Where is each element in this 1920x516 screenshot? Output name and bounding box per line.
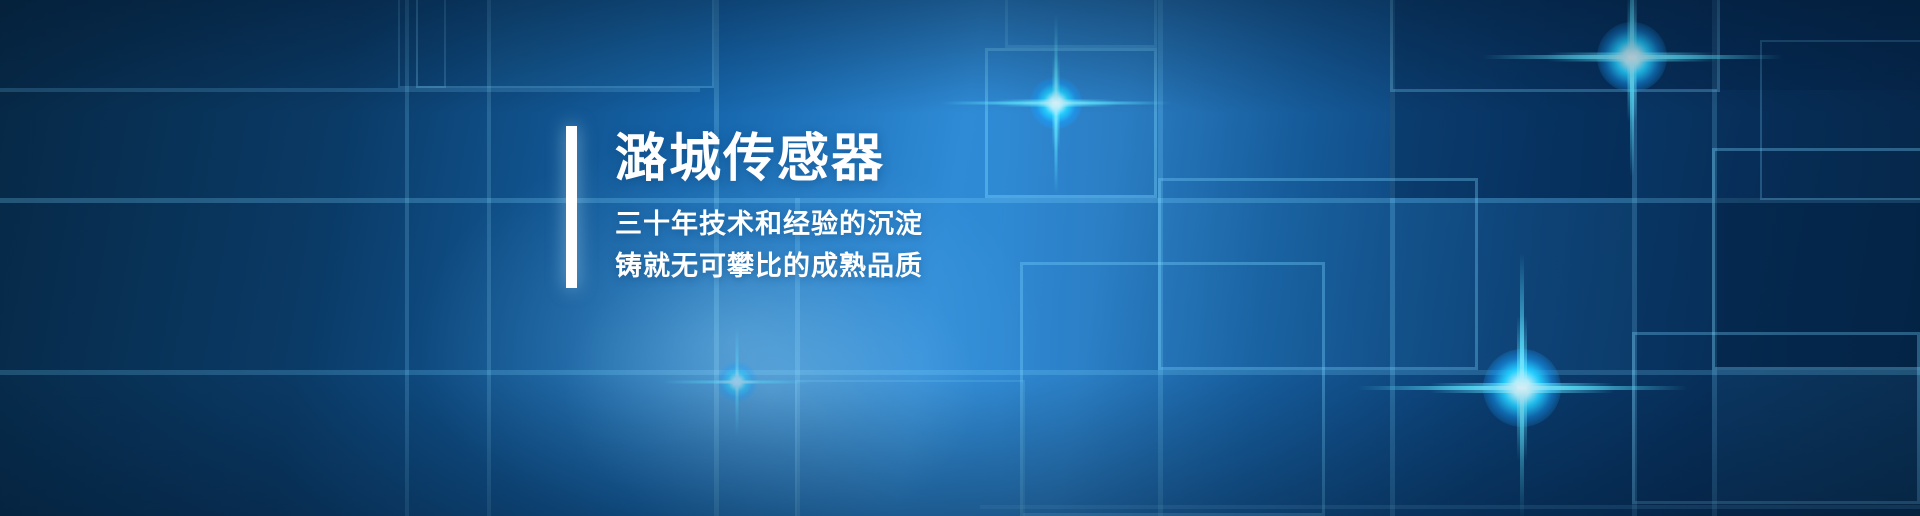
hero-banner: 潞城传感器 三十年技术和经验的沉淀 铸就无可攀比的成熟品质 (0, 0, 1920, 516)
background-vignette (0, 0, 1920, 516)
